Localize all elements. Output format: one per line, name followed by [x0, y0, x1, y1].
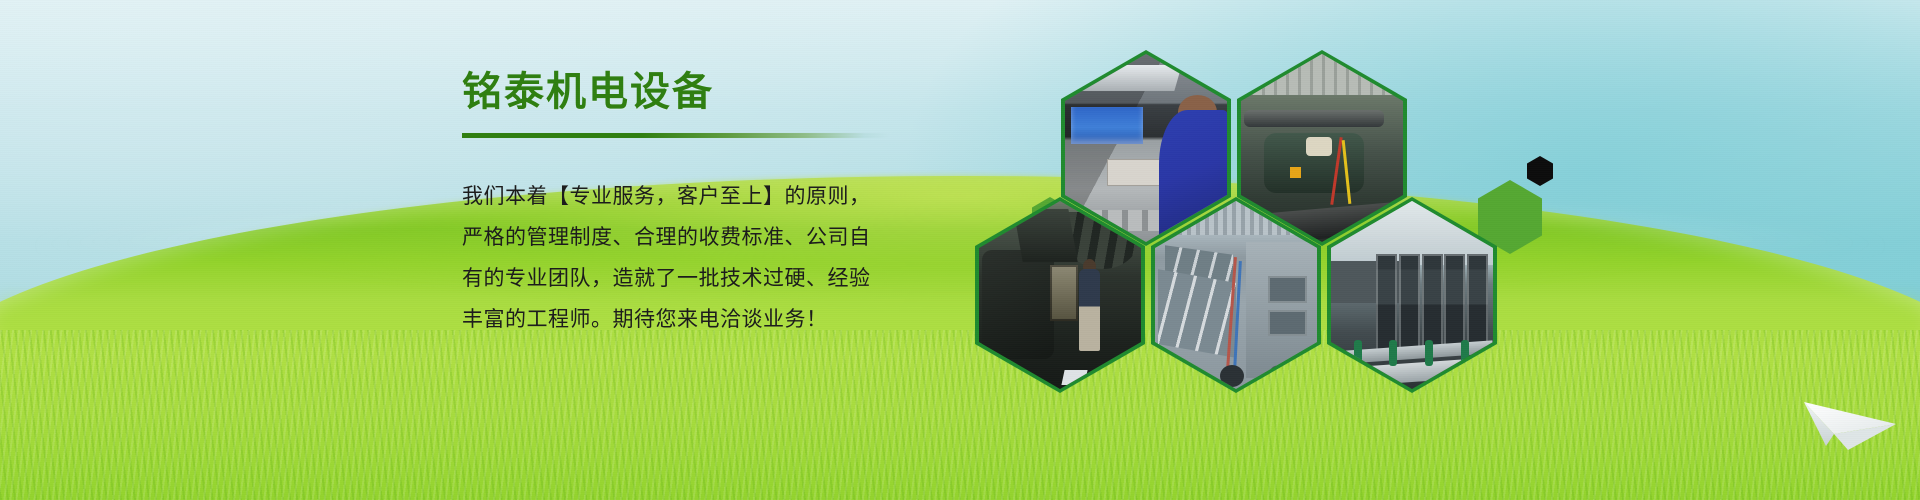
paper-plane-icon: [1800, 388, 1900, 452]
banner-description: 我们本着【专业服务，客户至上】的原则， 严格的管理制度、合理的收费标准、公司自 …: [462, 176, 882, 340]
promo-banner: 铭泰机电设备 我们本着【专业服务，客户至上】的原则， 严格的管理制度、合理的收费…: [0, 0, 1920, 500]
title-divider: [462, 133, 890, 138]
description-line: 我们本着【专业服务，客户至上】的原则，: [462, 176, 882, 217]
page-title: 铭泰机电设备: [462, 72, 882, 112]
hexagon-photo-cluster: [975, 44, 1615, 384]
description-line: 严格的管理制度、合理的收费标准、公司自: [462, 217, 882, 258]
description-line: 丰富的工程师。期待您来电洽谈业务！: [462, 299, 882, 340]
banner-text-block: 铭泰机电设备 我们本着【专业服务，客户至上】的原则， 严格的管理制度、合理的收费…: [462, 72, 882, 340]
grass-field: [0, 330, 1920, 500]
description-line: 有的专业团队，造就了一批技术过硬、经验: [462, 258, 882, 299]
